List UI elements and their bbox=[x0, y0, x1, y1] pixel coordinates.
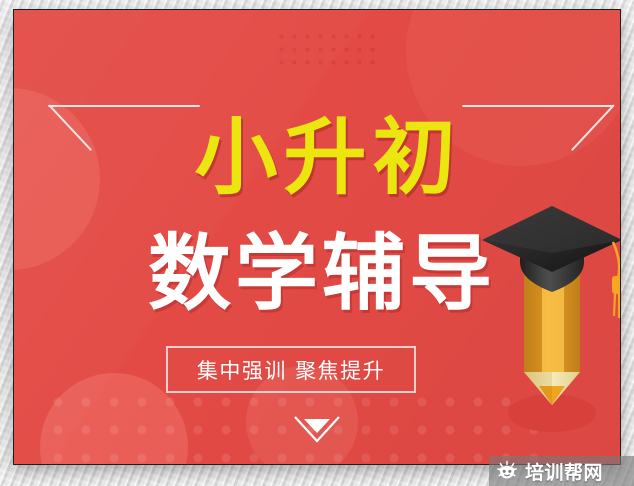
poster-content: 小升初 数学辅导 集中强训 聚焦提升 bbox=[14, 10, 620, 464]
chevron-down-icon bbox=[293, 414, 341, 444]
headline-primary: 小升初 bbox=[14, 116, 620, 199]
bracket-line-horizontal bbox=[48, 105, 200, 107]
screenshot-stage: 小升初 数学辅导 集中强训 聚焦提升 bbox=[0, 0, 634, 486]
poster-banner: 小升初 数学辅导 集中强训 聚焦提升 bbox=[13, 9, 621, 465]
watermark-badge: 培训帮网 bbox=[489, 456, 634, 486]
watermark-text: 培训帮网 bbox=[525, 458, 603, 485]
subtitle-text: 集中强训 聚焦提升 bbox=[197, 355, 385, 385]
sun-smiley-icon bbox=[496, 460, 518, 482]
dot-pattern-top-right bbox=[272, 27, 376, 67]
graduation-cap-pencil-illustration bbox=[480, 200, 620, 450]
subtitle-box: 集中强训 聚焦提升 bbox=[166, 346, 416, 393]
